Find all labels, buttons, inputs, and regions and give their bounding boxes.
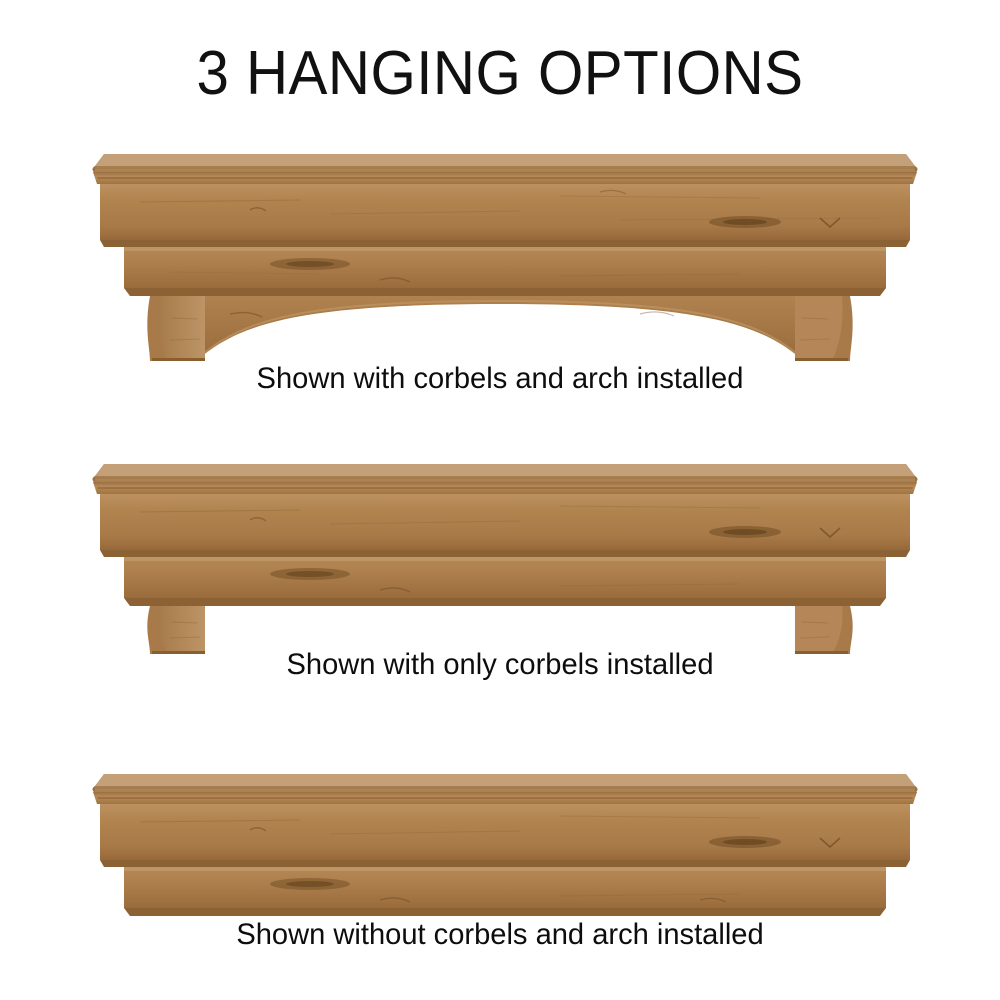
top-cap-1: [93, 154, 918, 173]
top-cap-2: [93, 464, 918, 483]
corbel-right-1: [795, 296, 853, 361]
frieze-shadow-step-2: [100, 550, 910, 557]
caption-option-1: Shown with corbels and arch installed: [15, 362, 985, 396]
lower-band-1: [124, 247, 886, 288]
decorative-arch-1: [150, 296, 850, 358]
product-options-page: 3 HANGING OPTIONS: [0, 0, 1000, 1000]
crown-cove-molding-3: [93, 792, 917, 804]
crown-cove-molding-2: [93, 482, 917, 494]
crown-cove-molding-1: [93, 172, 917, 184]
lower-band-3: [124, 867, 886, 908]
mantel-shelf-with-corbels-and-arch: [0, 148, 1000, 368]
caption-option-3: Shown without corbels and arch installed: [15, 918, 985, 952]
lower-band-bevel-1: [124, 288, 886, 296]
mantel-illustration-2: [0, 458, 1000, 658]
top-cap-3: [93, 774, 918, 793]
frieze-body-3: [100, 804, 910, 860]
lower-band-bevel-3: [124, 908, 886, 916]
corbel-left-2: [147, 606, 205, 654]
lower-band-bevel-2: [124, 598, 886, 606]
corbel-right-2: [795, 606, 853, 654]
mantel-illustration-1: [0, 148, 1000, 368]
caption-option-2: Shown with only corbels installed: [15, 648, 985, 682]
mantel-illustration-3: [0, 768, 1000, 928]
page-title: 3 HANGING OPTIONS: [30, 38, 970, 109]
frieze-shadow-step-1: [100, 240, 910, 247]
mantel-shelf-plain: [0, 768, 1000, 928]
corbel-left-1: [147, 296, 205, 361]
frieze-body-2: [100, 494, 910, 550]
lower-band-2: [124, 557, 886, 598]
frieze-body-1: [100, 184, 910, 240]
mantel-shelf-with-only-corbels: [0, 458, 1000, 658]
frieze-shadow-step-3: [100, 860, 910, 867]
